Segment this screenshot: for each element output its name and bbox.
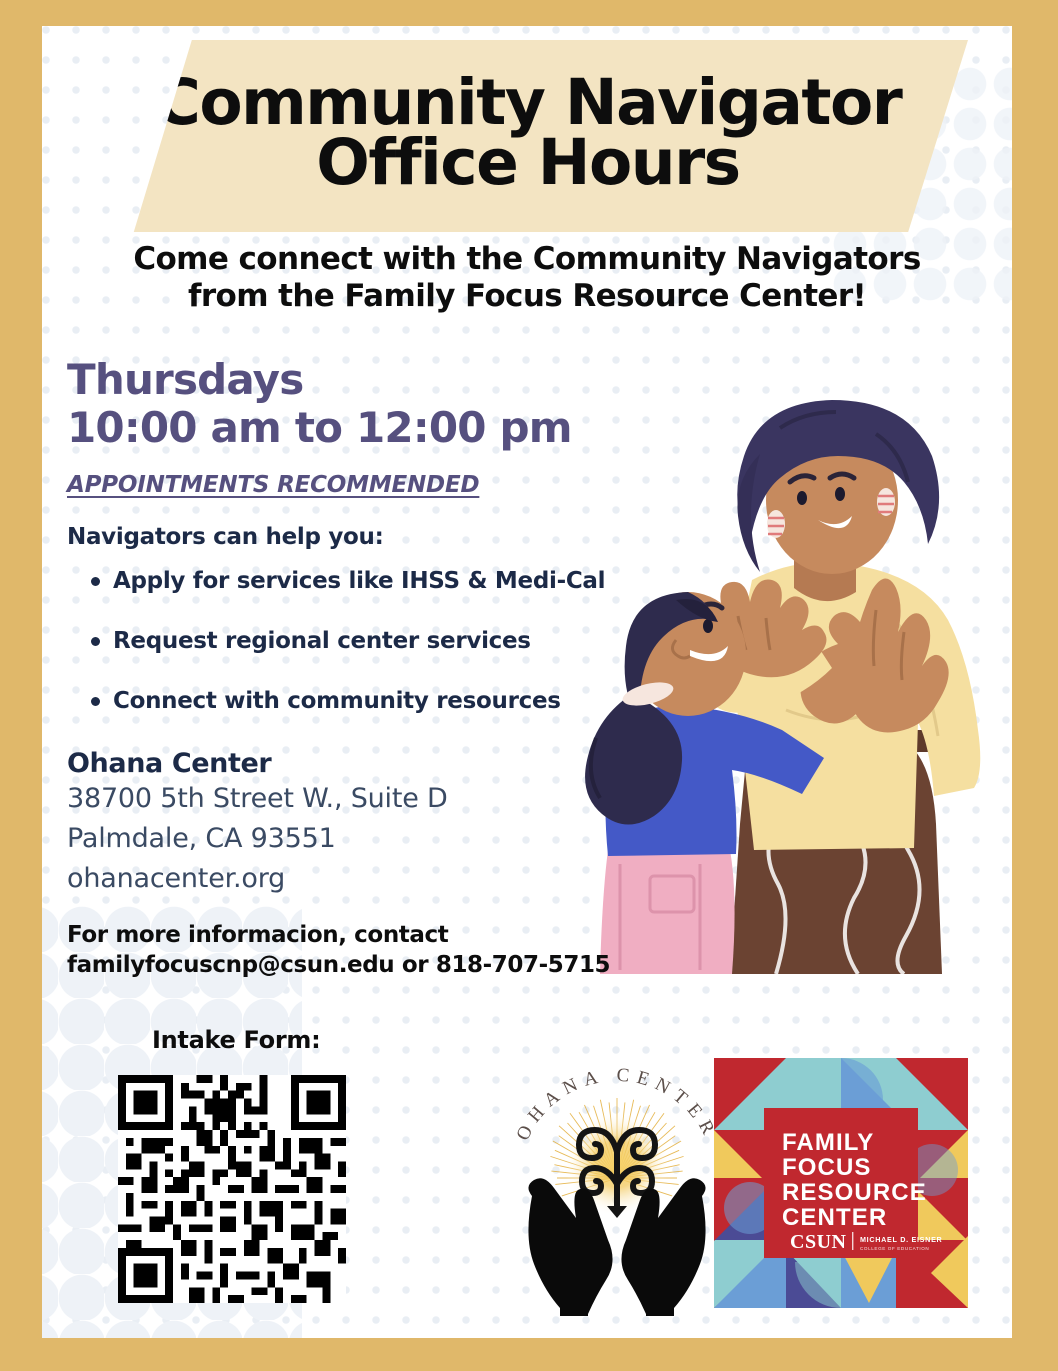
subtitle-line-2: from the Family Focus Resource Center!	[42, 278, 1012, 315]
appointments-note: APPOINTMENTS RECOMMENDED	[67, 472, 479, 498]
location-name: Ohana Center	[67, 748, 667, 779]
location-street: 38700 5th Street W., Suite D	[67, 779, 667, 819]
flyer-page: Community Navigator Office Hours Come co…	[42, 26, 1012, 1338]
csun-divider	[852, 1232, 853, 1250]
family-focus-resource-center-logo: FAMILY FOCUS RESOURCE CENTER CSUN MICHAE…	[714, 1058, 968, 1308]
csun-wordmark: CSUN	[790, 1231, 847, 1253]
location-website[interactable]: ohanacenter.org	[67, 859, 667, 899]
csun-logo-line-3: RESOURCE	[782, 1179, 927, 1206]
schedule-day: Thursdays	[67, 356, 667, 404]
csun-logo-line-1: FAMILY	[782, 1129, 874, 1156]
contact-block: For more informacion, contact familyfocu…	[67, 921, 667, 981]
page-title: Community Navigator Office Hours	[155, 73, 902, 200]
ohana-center-logo: OHANA CENTER	[502, 1046, 732, 1316]
subtitle: Come connect with the Community Navigato…	[42, 241, 1012, 314]
services-lead-in: Navigators can help you:	[67, 524, 667, 550]
title-line-2: Office Hours	[316, 126, 739, 199]
services-list: Apply for services like IHSS & Medi-Cal …	[67, 568, 667, 714]
csun-college-subname: COLLEGE OF EDUCATION	[860, 1246, 929, 1251]
intake-form-label: Intake Form:	[152, 1026, 320, 1054]
csun-logo-line-2: FOCUS	[782, 1154, 872, 1181]
schedule-time: 10:00 am to 12:00 pm	[67, 404, 667, 452]
title-banner: Community Navigator Office Hours	[88, 40, 968, 232]
location-city-state-zip: Palmdale, CA 93551	[67, 819, 667, 859]
contact-line-1: For more informacion, contact	[67, 921, 667, 951]
csun-college-name: MICHAEL D. EISNER	[860, 1235, 943, 1244]
list-item: Connect with community resources	[113, 688, 667, 714]
schedule-block: Thursdays 10:00 am to 12:00 pm	[67, 356, 667, 452]
list-item: Request regional center services	[113, 628, 667, 654]
subtitle-line-1: Come connect with the Community Navigato…	[42, 241, 1012, 278]
qr-code[interactable]	[118, 1075, 346, 1303]
contact-line-2[interactable]: familyfocuscnp@csun.edu or 818-707-5715	[67, 951, 667, 981]
list-item: Apply for services like IHSS & Medi-Cal	[113, 568, 667, 594]
csun-logo-line-4: CENTER	[782, 1204, 887, 1231]
details-column: Thursdays 10:00 am to 12:00 pm APPOINTME…	[67, 356, 667, 980]
